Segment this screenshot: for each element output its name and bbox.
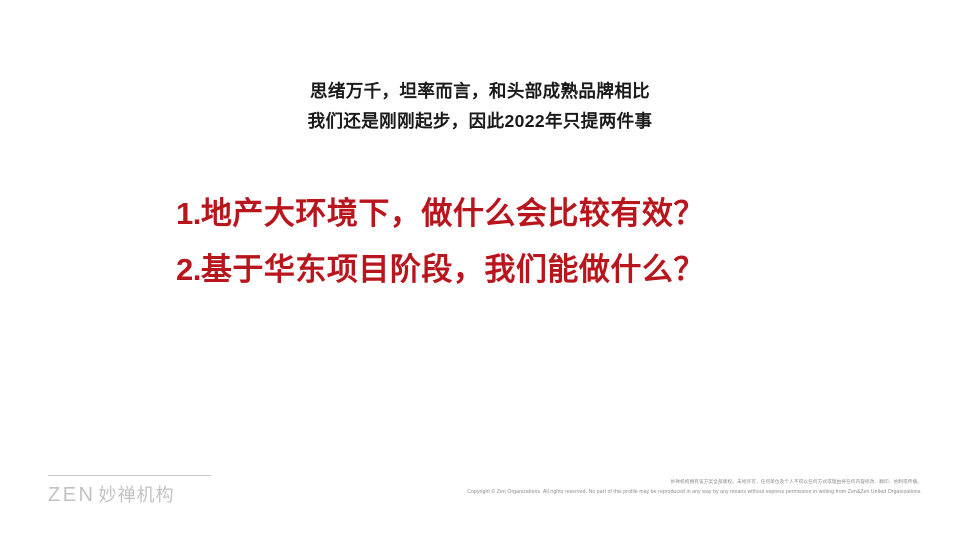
header-line-2: 我们还是刚刚起步，因此2022年只提两件事: [0, 106, 960, 136]
slide-header: 思绪万千，坦率而言，和头部成熟品牌相比 我们还是刚刚起步，因此2022年只提两件…: [0, 76, 960, 136]
footer-divider: [48, 475, 211, 476]
question-list: 1. 地产大环境下，做什么会比较有效？ 2. 基于华东项目阶段，我们能做什么？: [176, 190, 776, 302]
list-item-number: 1.: [176, 190, 201, 238]
list-item: 1. 地产大环境下，做什么会比较有效？: [176, 190, 776, 238]
brand-logo: ZEN 妙禅机构: [48, 484, 175, 506]
list-item: 2. 基于华东项目阶段，我们能做什么？: [176, 246, 776, 294]
list-item-text: 基于华东项目阶段，我们能做什么？: [201, 246, 776, 294]
presentation-slide: 思绪万千，坦率而言，和头部成熟品牌相比 我们还是刚刚起步，因此2022年只提两件…: [0, 0, 960, 540]
copyright-chinese: 妙禅机构拥有该方案全部版权。未经许可，任何单位及个人不得以任何方式或理由将任何内…: [362, 478, 922, 486]
brand-chinese-wordmark: 妙禅机构: [99, 484, 175, 506]
header-line-1: 思绪万千，坦率而言，和头部成熟品牌相比: [0, 76, 960, 106]
list-item-text: 地产大环境下，做什么会比较有效？: [201, 190, 776, 238]
list-item-number: 2.: [176, 246, 201, 294]
copyright-block: 妙禅机构拥有该方案全部版权。未经许可，任何单位及个人不得以任何方式或理由将任何内…: [362, 478, 922, 497]
slide-footer: ZEN 妙禅机构 妙禅机构拥有该方案全部版权。未经许可，任何单位及个人不得以任何…: [0, 470, 960, 540]
brand-latin-wordmark: ZEN: [48, 484, 96, 506]
copyright-english: Copyright © Zen Organizations. All right…: [362, 488, 922, 497]
